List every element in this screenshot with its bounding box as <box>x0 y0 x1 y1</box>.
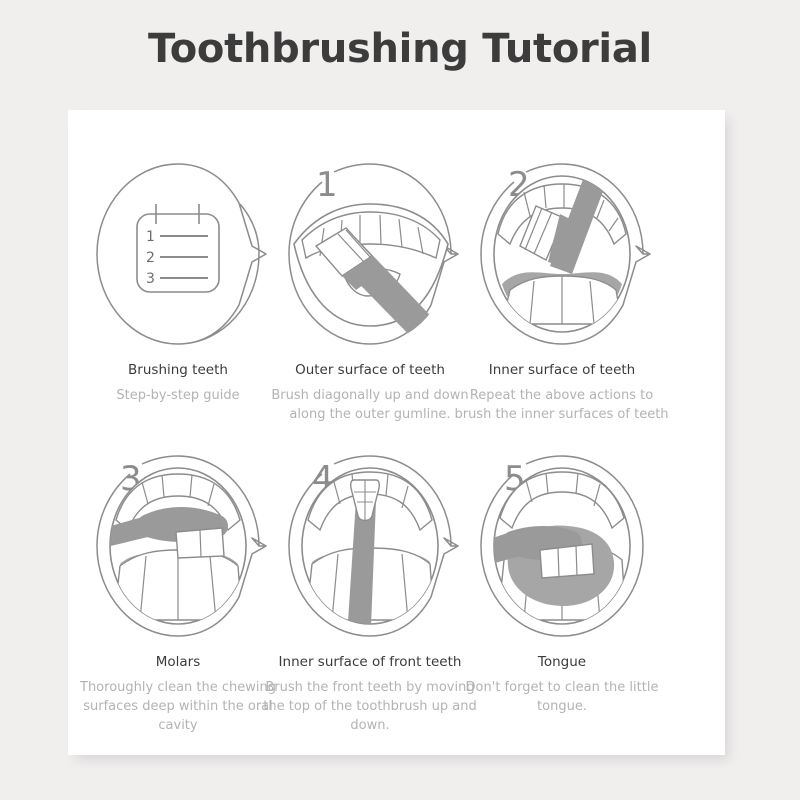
step-number: 1 <box>316 165 338 205</box>
checklist-number-2: 2 <box>146 250 155 266</box>
figure-inner-surface: 2 <box>464 148 660 360</box>
figure-tongue: 5 <box>464 440 660 652</box>
front-teeth-inner-brushing-icon: 4 <box>272 440 468 652</box>
checklist-number-3: 3 <box>146 271 155 287</box>
panel-description: Brush the front teeth by moving the top … <box>255 679 485 736</box>
inner-surface-brushing-icon: 2 <box>464 148 660 360</box>
panel-brushing-teeth[interactable]: 1 2 3 Brushing teeth Step-by-step guide <box>80 148 276 406</box>
panel-description: Step-by-step guide <box>80 387 276 406</box>
panel-description: Repeat the above actions to brush the in… <box>454 387 669 425</box>
panel-title: Inner surface of front teeth <box>272 654 468 670</box>
tongue-brushing-icon: 5 <box>464 440 660 652</box>
panel-outer-surface[interactable]: 1 <box>272 148 468 425</box>
panel-description: Don't forget to clean the little tongue. <box>464 679 660 717</box>
figure-molars: 3 <box>80 440 276 652</box>
figure-front-teeth-inner: 4 <box>272 440 468 652</box>
panel-title: Brushing teeth <box>80 362 276 378</box>
panel-description: Brush diagonally up and down along the o… <box>255 387 485 425</box>
figure-brushing-teeth: 1 2 3 <box>80 148 276 360</box>
outer-surface-brushing-icon: 1 <box>272 148 468 360</box>
panel-title: Molars <box>80 654 276 670</box>
panel-title: Outer surface of teeth <box>272 362 468 378</box>
panel-grid: 1 2 3 Brushing teeth Step-by-step guide <box>68 110 725 755</box>
checklist-number-1: 1 <box>146 229 155 245</box>
panel-front-teeth-inner[interactable]: 4 <box>272 440 468 736</box>
panel-title: Tongue <box>464 654 660 670</box>
panel-molars[interactable]: 3 <box>80 440 276 736</box>
panel-inner-surface[interactable]: 2 <box>464 148 660 425</box>
checklist-icon: 1 2 3 <box>80 148 276 360</box>
tutorial-card: 1 2 3 Brushing teeth Step-by-step guide <box>68 110 725 755</box>
panel-title: Inner surface of teeth <box>464 362 660 378</box>
molars-brushing-icon: 3 <box>80 440 276 652</box>
figure-outer-surface: 1 <box>272 148 468 360</box>
panel-tongue[interactable]: 5 <box>464 440 660 717</box>
page-title: Toothbrushing Tutorial <box>0 26 800 72</box>
